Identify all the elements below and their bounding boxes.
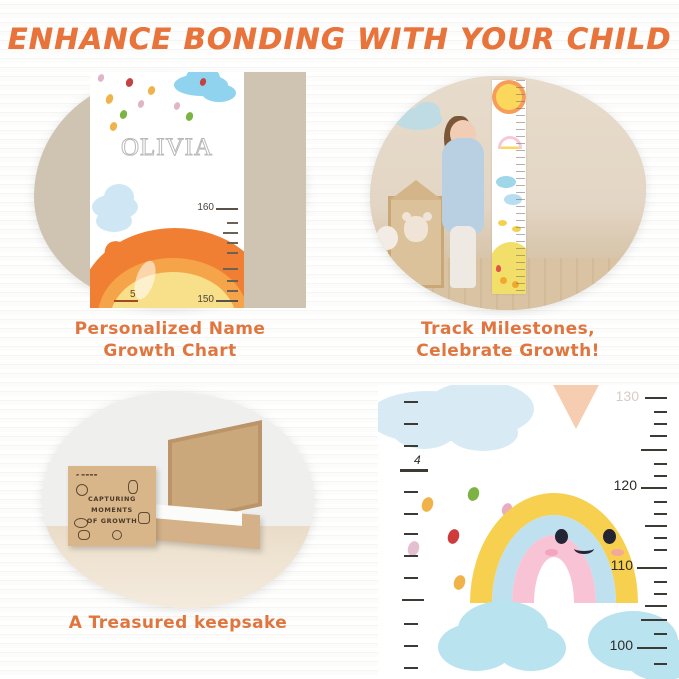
ruler-tick-major xyxy=(400,469,428,472)
confetti-dot xyxy=(109,121,119,132)
ruler-tick xyxy=(404,645,418,647)
ruler-tick xyxy=(227,280,238,282)
rainbow-cheek-left xyxy=(545,549,558,556)
cloud-icon xyxy=(496,625,566,671)
box-slogan-line-2: MOMENTS xyxy=(68,505,156,516)
teddy-bear-ear xyxy=(402,212,411,221)
plush-toy xyxy=(376,226,398,250)
ruler-tick xyxy=(404,577,418,579)
ruler-tick xyxy=(654,537,667,539)
ruler-label: 150 xyxy=(197,294,214,305)
card-right-band xyxy=(244,72,306,308)
growth-chart-artwork: OLIVIA 160 xyxy=(90,72,244,308)
caption-treasured-keepsake: A Treasured keepsake xyxy=(42,612,314,634)
ruler-tick xyxy=(404,491,418,493)
imperial-ruler-tick xyxy=(114,300,138,302)
confetti-dot xyxy=(147,85,157,96)
ruler-tick xyxy=(404,513,418,515)
ruler-tick xyxy=(227,290,238,292)
doodle-icon xyxy=(78,530,90,540)
tulip-icon xyxy=(496,265,501,272)
cloud-wall-decor-icon xyxy=(414,102,440,120)
ruler-tick xyxy=(402,599,424,601)
ruler-label-110: 110 xyxy=(611,557,633,573)
ruler-tick xyxy=(404,445,418,447)
sunflower-icon xyxy=(500,277,507,284)
ruler-tick xyxy=(404,555,418,557)
box-slogan: CAPTURING MOMENTS OF GROWTH xyxy=(68,494,156,527)
brand-logo: ▰ ▬▬▬▬ xyxy=(76,472,98,477)
metric-ruler: 160 150 xyxy=(202,72,244,308)
ruler-label-130: 130 xyxy=(616,388,639,404)
imperial-ruler: 4 xyxy=(400,385,440,679)
girl-dress xyxy=(442,138,484,234)
ruler-tick xyxy=(654,411,667,413)
ruler-tick xyxy=(223,232,238,234)
caption-line-1: Track Milestones, xyxy=(370,318,646,340)
confetti-dot xyxy=(137,99,145,109)
confetti-dot xyxy=(173,101,181,111)
confetti-dot xyxy=(119,109,129,120)
confetti-dot xyxy=(466,486,481,503)
photo-frame xyxy=(370,76,646,310)
wall-growth-chart xyxy=(492,80,526,294)
doodle-icon xyxy=(128,480,138,494)
ruler-tick xyxy=(641,449,667,451)
ruler-tick xyxy=(216,208,238,210)
ruler-tick xyxy=(227,252,238,254)
ruler-tick xyxy=(404,623,418,625)
rainbow-mouth xyxy=(574,543,594,554)
caption-personalized-name: Personalized Name Growth Chart xyxy=(34,318,306,362)
ruler-label-100: 100 xyxy=(610,637,633,653)
ruler-tick xyxy=(645,397,667,399)
page-title: ENHANCE BONDING WITH YOUR CHILD xyxy=(0,22,679,56)
packaging-photo-frame: ▰ ▬▬▬▬ CAPTURING MOMENTS OF GROWTH xyxy=(42,392,314,608)
marketing-infographic: ENHANCE BONDING WITH YOUR CHILD OLIVIA xyxy=(0,0,679,679)
ruler-tick xyxy=(650,435,667,437)
ruler-tick xyxy=(637,567,667,569)
ruler-tick xyxy=(404,423,418,425)
ruler-tick xyxy=(654,423,667,425)
ruler-tick xyxy=(654,463,667,465)
ruler-tick xyxy=(404,401,418,403)
ruler-label: 160 xyxy=(197,202,214,213)
box-slogan-line-3: OF GROWTH xyxy=(68,516,156,527)
cloud-icon xyxy=(104,184,134,210)
caption-line-2: Celebrate Growth! xyxy=(370,340,646,362)
confetti-dot xyxy=(125,77,135,88)
panel-track-milestones xyxy=(370,76,646,310)
ruler-tick xyxy=(216,300,238,302)
caption-line-1: A Treasured keepsake xyxy=(42,612,314,634)
ruler-tick xyxy=(654,663,667,665)
ruler-tick xyxy=(645,525,667,527)
caption-line-1: Personalized Name xyxy=(34,318,306,340)
caption-line-2: Growth Chart xyxy=(34,340,306,362)
ruler-label-120: 120 xyxy=(614,477,637,493)
shelf-roof xyxy=(390,180,442,200)
confetti-dot xyxy=(446,528,461,546)
confetti-dot xyxy=(105,93,115,105)
ruler-tick xyxy=(637,647,667,649)
ruler-tick xyxy=(404,533,418,535)
ruler-tick xyxy=(404,667,418,669)
plush-toy xyxy=(384,286,424,304)
ruler-tick xyxy=(654,501,667,503)
imperial-ruler-label: 5 xyxy=(130,289,136,300)
cloud-icon xyxy=(448,415,518,451)
ruler-tick xyxy=(654,475,667,477)
kraft-box-front: ▰ ▬▬▬▬ CAPTURING MOMENTS OF GROWTH xyxy=(68,466,156,546)
panel-rainbow-closeup: 130 120 110 100 xyxy=(378,385,679,679)
ruler-tick xyxy=(654,549,667,551)
ruler-tick xyxy=(227,222,238,224)
ruler-tick xyxy=(227,242,238,244)
caption-track-milestones: Track Milestones, Celebrate Growth! xyxy=(370,318,646,362)
rainbow-eye-left xyxy=(555,529,568,544)
ruler-tick xyxy=(654,633,667,635)
teddy-bear-ear xyxy=(423,212,432,221)
room-photo xyxy=(370,76,646,310)
ruler-tick xyxy=(641,487,667,489)
panel-treasured-keepsake: ▰ ▬▬▬▬ CAPTURING MOMENTS OF GROWTH xyxy=(42,392,314,608)
confetti-dot xyxy=(452,574,467,592)
ruler-tick xyxy=(654,593,667,595)
panel-personalized-name: OLIVIA 160 xyxy=(34,76,306,308)
chart-tick-band xyxy=(516,80,525,294)
girl-legs xyxy=(450,226,476,288)
cloud-icon xyxy=(96,210,132,232)
imperial-ruler-label: 4 xyxy=(414,453,421,467)
bee-icon xyxy=(498,220,507,226)
ruler-tick xyxy=(654,513,667,515)
doodle-icon xyxy=(112,530,122,540)
cloud-icon xyxy=(496,176,516,188)
ruler-tick xyxy=(223,268,238,270)
ruler-tick xyxy=(654,581,667,583)
confetti-dot xyxy=(97,73,105,83)
ruler-tick xyxy=(641,619,667,621)
confetti-dot xyxy=(185,111,195,122)
box-slogan-line-1: CAPTURING xyxy=(68,494,156,505)
metric-ruler: 130 120 110 100 xyxy=(595,385,679,679)
ruler-tick xyxy=(645,605,667,607)
